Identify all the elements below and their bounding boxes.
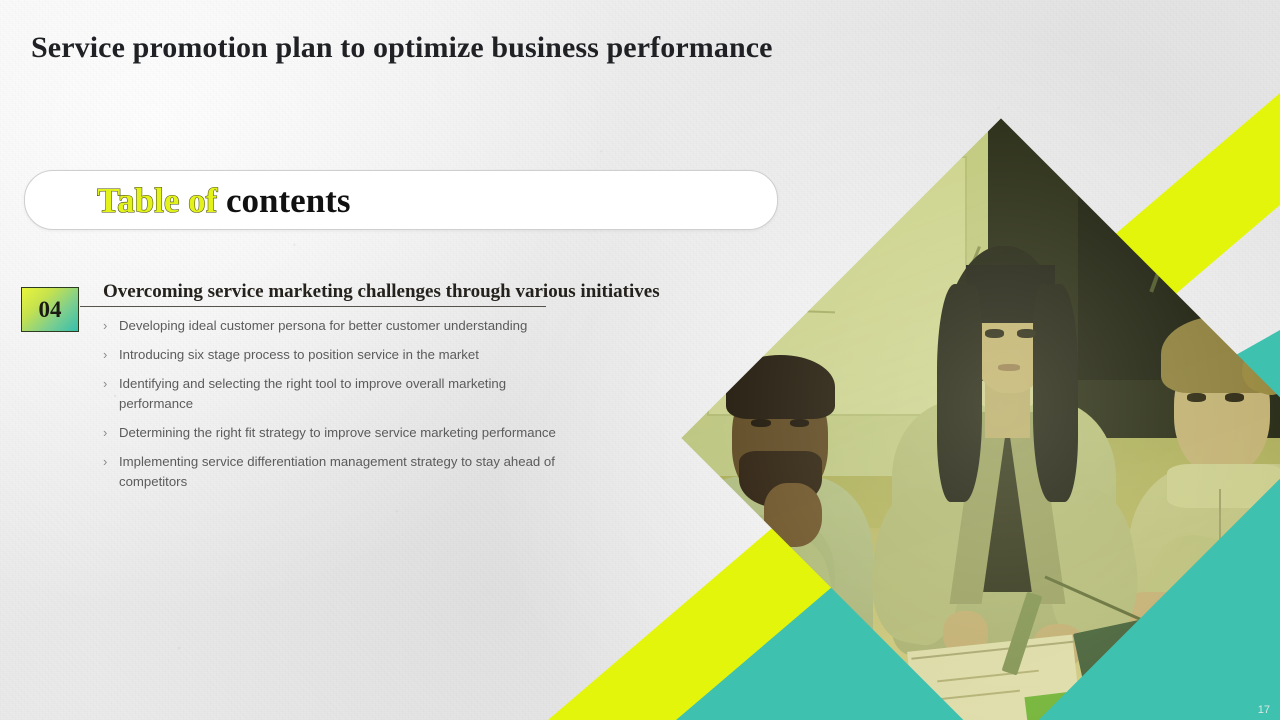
presentation-slide: Service promotion plan to optimize busin…: [0, 0, 1280, 720]
toc-header-text: Table of contents: [97, 183, 350, 218]
list-item: › Introducing six stage process to posit…: [103, 345, 573, 365]
list-item: › Implementing service differentiation m…: [103, 452, 573, 492]
toc-accent-label: Table of: [97, 181, 217, 220]
chevron-right-icon: ›: [103, 423, 119, 443]
page-number: 17: [1258, 704, 1270, 716]
section-number-badge: 04: [21, 287, 79, 332]
list-item-label: Identifying and selecting the right tool…: [119, 374, 573, 414]
chevron-right-icon: ›: [103, 316, 119, 336]
section-bullet-list: › Developing ideal customer persona for …: [103, 316, 573, 501]
list-item-label: Determining the right fit strategy to im…: [119, 423, 556, 443]
list-item: › Determining the right fit strategy to …: [103, 423, 573, 443]
table-of-contents-header: Table of contents: [24, 170, 778, 230]
chevron-right-icon: ›: [103, 374, 119, 394]
list-item-label: Introducing six stage process to positio…: [119, 345, 479, 365]
list-item-label: Developing ideal customer persona for be…: [119, 316, 527, 336]
section-heading: Overcoming service marketing challenges …: [103, 281, 660, 303]
list-item: › Developing ideal customer persona for …: [103, 316, 573, 336]
list-item-label: Implementing service differentiation man…: [119, 452, 573, 492]
page-title: Service promotion plan to optimize busin…: [31, 31, 773, 65]
section-divider: [80, 306, 546, 307]
list-item: › Identifying and selecting the right to…: [103, 374, 573, 414]
chevron-right-icon: ›: [103, 452, 119, 472]
toc-plain-label: contents: [226, 181, 350, 220]
chevron-right-icon: ›: [103, 345, 119, 365]
